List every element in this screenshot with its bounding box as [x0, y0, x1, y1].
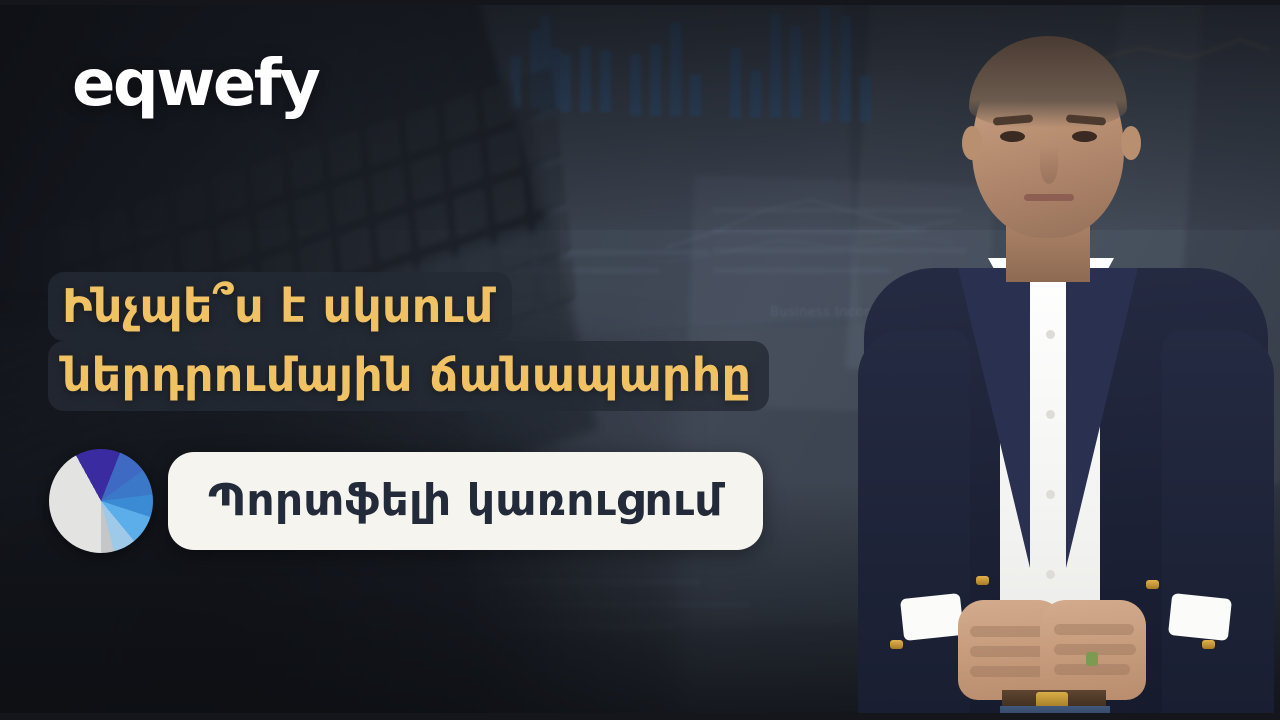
subtitle-pill-label: Պորտֆելի կառուցում: [208, 479, 723, 523]
letterbox-bottom-bar: [0, 713, 1280, 720]
presenter-hair: [969, 36, 1127, 128]
presenter-nose: [1040, 146, 1058, 184]
letterbox-top-bar: [0, 0, 1280, 5]
subtitle-pill: Պորտֆելի կառուցում: [168, 452, 763, 550]
jacket-gold-button: [976, 576, 989, 585]
shirt-button: [1046, 410, 1055, 419]
presenter-lapel-right: [1066, 268, 1138, 568]
pie-chart-badge: [49, 449, 153, 553]
shirt-button: [1046, 330, 1055, 339]
presenter-cuff-left: [900, 593, 964, 641]
headline-line-2: ներդրումային ճանապարհը: [48, 341, 769, 410]
headline-line-1: Ինչպե՞ս է սկսում: [48, 272, 512, 341]
presenter-photo: [850, 0, 1280, 720]
presenter-cuff-right: [1168, 593, 1232, 641]
presenter-sleeve-left: [858, 330, 970, 720]
pie-chart-icon: [49, 449, 153, 553]
presenter-ear-right: [1121, 126, 1141, 160]
presenter-eye-left: [1000, 131, 1025, 142]
shirt-button: [1046, 490, 1055, 499]
video-thumbnail: Business Income: [0, 0, 1280, 720]
presenter-eye-right: [1072, 131, 1097, 142]
headline: Ինչպե՞ս է սկսում ներդրումային ճանապարհը: [48, 272, 769, 411]
shirt-button: [1046, 570, 1055, 579]
presenter-ring: [1086, 652, 1098, 666]
sleeve-gold-button: [890, 640, 903, 649]
presenter-ear-left: [962, 126, 982, 160]
sleeve-gold-button: [1202, 640, 1215, 649]
brand-logo: eqwefy: [72, 52, 318, 116]
jacket-gold-button: [1146, 580, 1159, 589]
presenter-mouth: [1024, 194, 1074, 201]
presenter-hand-right: [1040, 600, 1146, 700]
presenter-sleeve-right: [1162, 330, 1274, 720]
